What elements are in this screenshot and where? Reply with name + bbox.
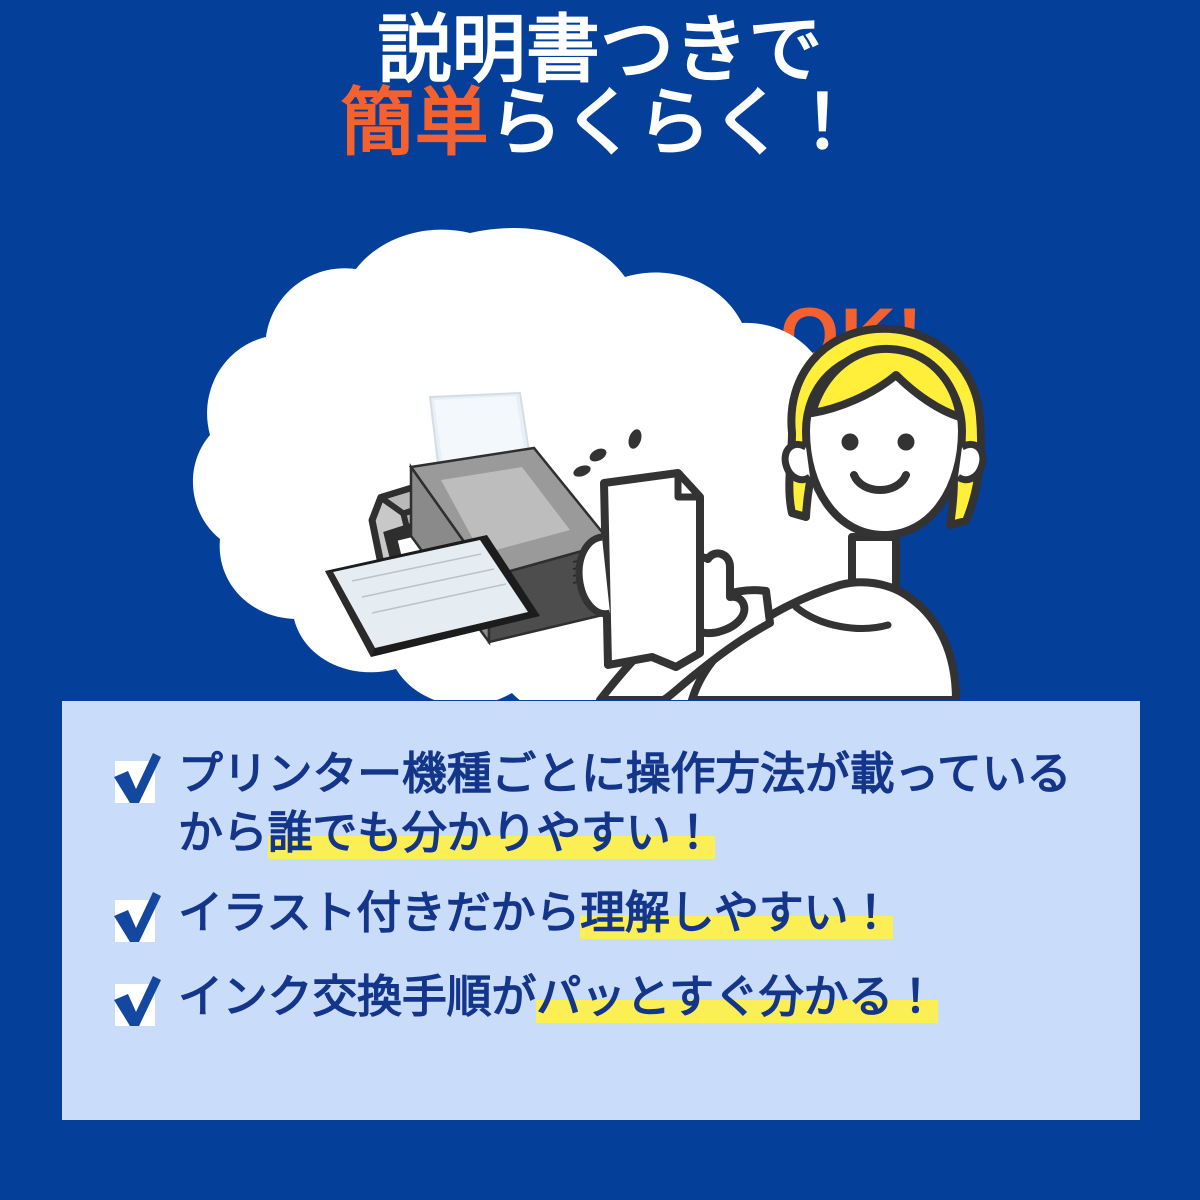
thought-puff-small-icon <box>732 427 772 467</box>
headline: 説明書つきで 簡単らくらく！ <box>0 14 1200 159</box>
benefits-panel: プリンター機種ごとに操作方法が載っているから誰でも分かりやすい！ イラスト付きだ… <box>62 701 1140 1120</box>
eye-left-icon <box>842 434 859 451</box>
list-item: イラスト付きだから理解しやすい！ <box>106 884 1102 946</box>
list-item-text: プリンター機種ごとに操作方法が載っているから誰でも分かりやすい！ <box>178 745 1102 862</box>
list-item-text: イラスト付きだから理解しやすい！ <box>178 884 893 943</box>
check-icon <box>106 972 164 1030</box>
list-item-highlight: 誰でも分かりやすい！ <box>268 807 716 859</box>
list-item-plain-1: インク交換手順が <box>178 971 536 1022</box>
list-item-plain-1: イラスト付きだから <box>178 887 580 938</box>
eye-right-icon <box>898 434 915 451</box>
headline-line-2: 簡単らくらく！ <box>0 87 1200 160</box>
headline-emphasis: 簡単 <box>340 81 488 164</box>
headline-line-1: 説明書つきで <box>0 14 1200 87</box>
thought-puff-large-icon <box>664 413 712 461</box>
list-item: インク交換手順がパッとすぐ分かる！ <box>106 968 1102 1030</box>
check-icon <box>106 749 164 807</box>
list-item-text: インク交換手順がパッとすぐ分かる！ <box>178 968 938 1027</box>
list-item-highlight: パッとすぐ分かる！ <box>536 971 938 1023</box>
headline-line-2-rest: らくらく！ <box>489 81 860 164</box>
list-item-highlight: 理解しやすい！ <box>580 887 893 939</box>
list-item: プリンター機種ごとに操作方法が載っているから誰でも分かりやすい！ <box>106 745 1102 862</box>
check-icon <box>106 888 164 946</box>
promo-banner: 説明書つきで 簡単らくらく！ OK! <box>0 0 1200 1200</box>
illustration <box>0 225 1200 700</box>
